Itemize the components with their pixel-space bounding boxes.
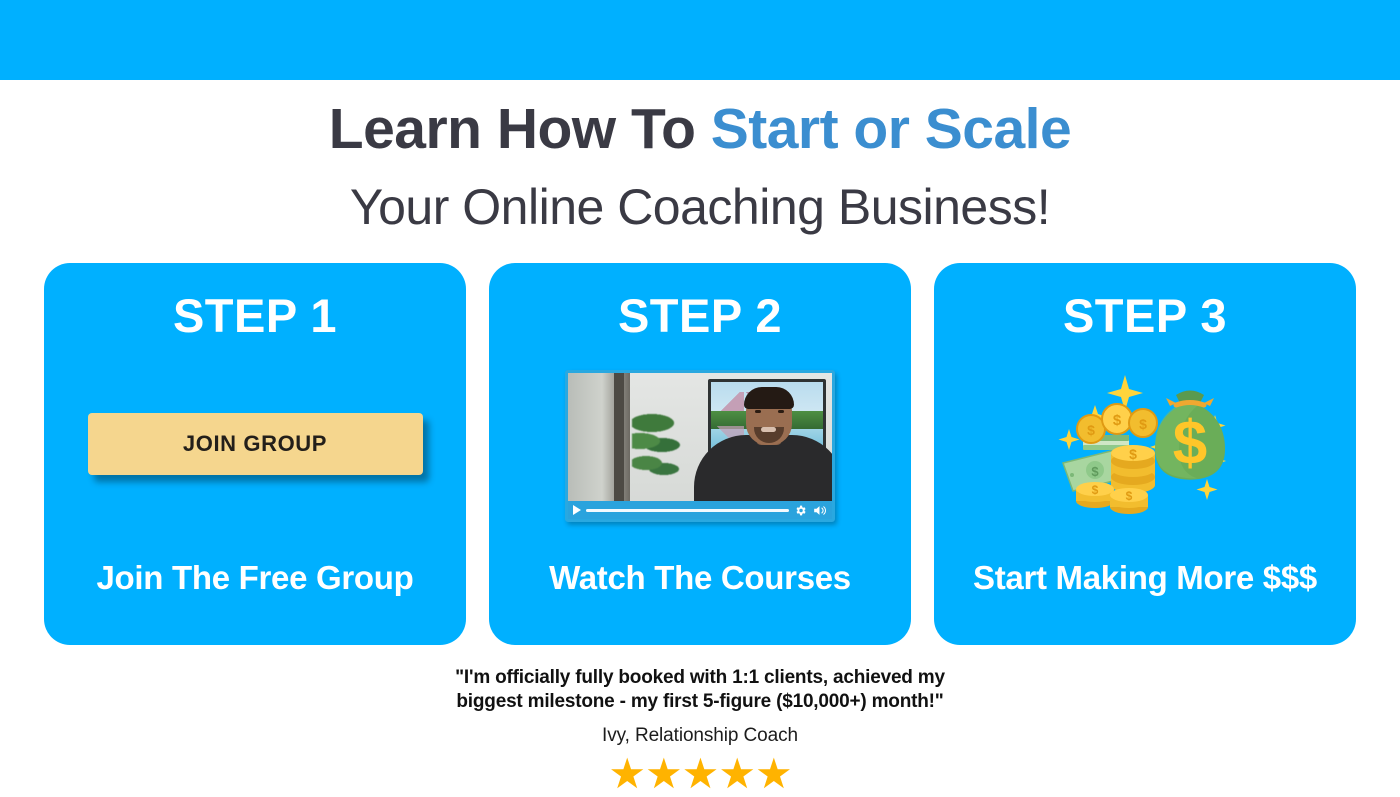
video-controls-bar	[568, 501, 832, 519]
video-scene	[568, 373, 832, 519]
step-card-1[interactable]: STEP 1 JOIN GROUP Join The Free Group	[44, 263, 466, 645]
person-hair	[744, 387, 794, 409]
svg-text:$: $	[1087, 422, 1095, 438]
testimonial-quote: "I'm officially fully booked with 1:1 cl…	[0, 666, 1400, 715]
svg-text:$: $	[1113, 412, 1122, 429]
headline-line-1: Learn How To Start or Scale	[0, 96, 1400, 163]
testimonial-author: Ivy, Relationship Coach	[0, 725, 1400, 747]
headline-line-1-accent: Start or Scale	[711, 97, 1072, 161]
step-card-3-title: STEP 3	[1063, 292, 1227, 339]
gear-icon[interactable]	[794, 504, 807, 517]
step-card-3[interactable]: STEP 3	[934, 263, 1356, 645]
svg-text:$: $	[1173, 409, 1207, 478]
svg-text:$: $	[1092, 483, 1099, 497]
svg-text:$: $	[1139, 416, 1147, 432]
landing-page: Learn How To Start or Scale Your Online …	[0, 0, 1400, 790]
headline-line-1-plain: Learn How To	[329, 97, 711, 161]
person-mouth	[761, 427, 776, 432]
person-eye-right	[778, 410, 784, 413]
video-person	[694, 409, 835, 501]
video-doorway	[568, 373, 630, 519]
step-card-1-media: JOIN GROUP	[44, 339, 466, 561]
person-eye-left	[755, 410, 761, 413]
step-card-1-caption: Join The Free Group	[96, 561, 413, 594]
step-card-2-media	[489, 339, 911, 561]
step-card-2-caption: Watch The Courses	[549, 561, 851, 594]
headline: Learn How To Start or Scale Your Online …	[0, 96, 1400, 237]
headline-line-2: Your Online Coaching Business!	[0, 177, 1400, 237]
testimonial-quote-line-2: biggest milestone - my first 5-figure ($…	[0, 690, 1400, 714]
video-thumbnail[interactable]	[565, 370, 835, 522]
play-icon[interactable]	[573, 505, 581, 515]
testimonial-quote-line-1: "I'm officially fully booked with 1:1 cl…	[0, 666, 1400, 690]
step-card-2-title: STEP 2	[618, 292, 782, 339]
video-plant	[632, 411, 680, 481]
top-blue-band	[0, 0, 1400, 80]
money-emoji: $ $	[1055, 367, 1235, 517]
testimonial: "I'm officially fully booked with 1:1 cl…	[0, 666, 1400, 795]
svg-text:$: $	[1091, 464, 1099, 479]
svg-text:$: $	[1129, 446, 1137, 462]
video-progress-bar[interactable]	[586, 509, 789, 512]
star-rating-icon: ★★★★★	[0, 753, 1400, 795]
step-cards: STEP 1 JOIN GROUP Join The Free Group ST…	[44, 263, 1356, 645]
volume-icon[interactable]	[812, 504, 827, 517]
step-card-2[interactable]: STEP 2	[489, 263, 911, 645]
step-card-1-title: STEP 1	[173, 292, 337, 339]
svg-text:$: $	[1126, 489, 1133, 503]
join-group-button-label: JOIN GROUP	[183, 431, 327, 457]
join-group-button[interactable]: JOIN GROUP	[88, 413, 423, 475]
step-card-3-media: $ $	[934, 339, 1356, 561]
step-card-3-caption: Start Making More $$$	[973, 561, 1317, 594]
